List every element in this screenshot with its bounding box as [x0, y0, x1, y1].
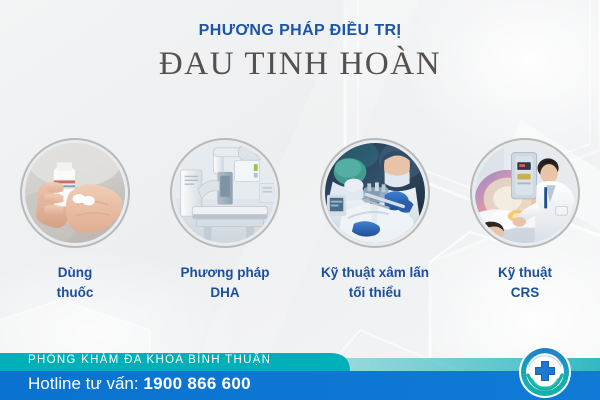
treatment-methods-poster: PHƯƠNG PHÁP ĐIỀU TRỊ ĐAU TINH HOÀN — [0, 0, 600, 400]
treatment-item-label: Dùng thuốc — [57, 263, 94, 304]
treatment-circle[interactable] — [320, 138, 430, 248]
poster-headline: ĐAU TINH HOÀN — [0, 44, 600, 85]
hand-holding-pill-bottle-photo — [25, 143, 125, 243]
treatment-item-label: Kỹ thuật CRS — [498, 263, 552, 304]
dha-radiology-machine-photo — [175, 143, 275, 243]
treatment-circle[interactable] — [470, 138, 580, 248]
treatment-items-row: Dùng thuốc — [0, 138, 600, 304]
clinic-name: PHÒNG KHÁM ĐA KHOA BÌNH THUẬN — [28, 354, 271, 366]
treatment-circle[interactable] — [20, 138, 130, 248]
hotline-label: Hotline tư vấn: — [28, 374, 139, 393]
hotline-number[interactable]: 1900 866 600 — [143, 374, 251, 393]
crs-scanner-doctor-patient-photo — [475, 143, 575, 243]
treatment-item-label: Kỹ thuật xâm lấn tối thiểu — [321, 263, 429, 304]
treatment-item-minimally-invasive[interactable]: Kỹ thuật xâm lấn tối thiểu — [305, 138, 445, 304]
clinic-cross-badge-logo[interactable] — [516, 345, 574, 400]
treatment-item-label: Phương pháp DHA — [180, 263, 269, 304]
surgeons-operating-room-photo — [325, 143, 425, 243]
title-block: PHƯƠNG PHÁP ĐIỀU TRỊ ĐAU TINH HOÀN — [0, 22, 600, 86]
poster-eyebrow: PHƯƠNG PHÁP ĐIỀU TRỊ — [0, 22, 600, 40]
treatment-item-crs[interactable]: Kỹ thuật CRS — [455, 138, 595, 304]
treatment-item-dha[interactable]: Phương pháp DHA — [155, 138, 295, 304]
hotline-text: Hotline tư vấn: 1900 866 600 — [28, 373, 251, 394]
treatment-circle[interactable] — [170, 138, 280, 248]
treatment-item-medication[interactable]: Dùng thuốc — [5, 138, 145, 304]
footer-bar: PHÒNG KHÁM ĐA KHOA BÌNH THUẬN Hotline tư… — [0, 340, 600, 400]
